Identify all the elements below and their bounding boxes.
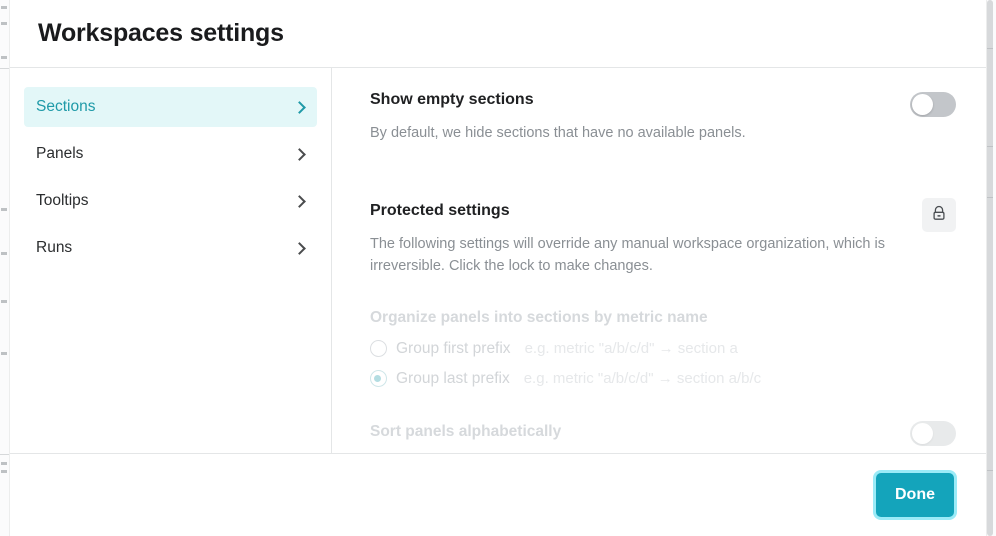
sidebar-item-label: Runs xyxy=(36,239,72,257)
radio-example-text: e.g. metric "a/b/c/d" → section a/b/c xyxy=(524,370,761,387)
chevron-right-icon xyxy=(293,148,306,161)
sidebar-item-panels[interactable]: Panels xyxy=(24,134,317,174)
done-button[interactable]: Done xyxy=(876,473,954,517)
sidebar-item-label: Sections xyxy=(36,98,95,116)
sidebar-item-runs[interactable]: Runs xyxy=(24,228,317,268)
modal-footer: Done xyxy=(10,454,986,535)
protected-settings-block: Protected settings The following setting… xyxy=(370,201,956,446)
lock-toggle-button[interactable] xyxy=(922,198,956,232)
page-scrollbar[interactable] xyxy=(987,0,993,536)
page-title: Workspaces settings xyxy=(38,19,284,48)
protected-settings-description: The following settings will override any… xyxy=(370,233,890,277)
show-empty-sections-toggle[interactable] xyxy=(910,92,956,117)
sidebar-item-tooltips[interactable]: Tooltips xyxy=(24,181,317,221)
chevron-right-icon xyxy=(293,242,306,255)
sort-panels-setting: Sort panels alphabetically xyxy=(370,419,956,446)
modal-header: Workspaces settings xyxy=(10,0,986,68)
sort-panels-label: Sort panels alphabetically xyxy=(370,423,561,441)
lock-closed-icon xyxy=(931,205,947,225)
show-empty-sections-setting: Show empty sections By default, we hide … xyxy=(370,90,956,144)
background-page-sliver-left xyxy=(0,0,10,536)
settings-modal: Workspaces settings Sections Panels Tool… xyxy=(10,0,986,536)
scrollbar-seam xyxy=(987,470,993,471)
show-empty-sections-description: By default, we hide sections that have n… xyxy=(370,122,746,144)
radio-label: Group first prefix xyxy=(396,340,511,358)
chevron-right-icon xyxy=(293,195,306,208)
scrollbar-seam xyxy=(987,48,993,49)
protected-settings-title: Protected settings xyxy=(370,201,890,222)
sidebar-item-label: Panels xyxy=(36,145,83,163)
locked-settings-area: Organize panels into sections by metric … xyxy=(370,308,956,446)
chevron-right-icon xyxy=(293,101,306,114)
organize-panels-heading: Organize panels into sections by metric … xyxy=(370,308,956,328)
scrollbar-seam xyxy=(987,146,993,147)
radio-icon[interactable] xyxy=(370,340,387,357)
workspaces-settings-screen: Workspaces settings Sections Panels Tool… xyxy=(0,0,996,536)
settings-content: Show empty sections By default, we hide … xyxy=(332,68,986,453)
modal-body: Sections Panels Tooltips Runs xyxy=(10,68,986,454)
settings-sidebar: Sections Panels Tooltips Runs xyxy=(10,68,332,453)
show-empty-sections-title: Show empty sections xyxy=(370,90,746,111)
sort-panels-toggle xyxy=(910,421,956,446)
radio-option-group-last-prefix[interactable]: Group last prefix e.g. metric "a/b/c/d" … xyxy=(370,370,956,388)
sidebar-item-label: Tooltips xyxy=(36,192,89,210)
sidebar-item-sections[interactable]: Sections xyxy=(24,87,317,127)
toggle-knob xyxy=(912,94,933,115)
radio-label: Group last prefix xyxy=(396,370,510,388)
toggle-knob xyxy=(912,423,933,444)
radio-icon[interactable] xyxy=(370,370,387,387)
radio-option-group-first-prefix[interactable]: Group first prefix e.g. metric "a/b/c/d"… xyxy=(370,340,956,358)
scrollbar-seam xyxy=(987,197,993,198)
radio-example-text: e.g. metric "a/b/c/d" → section a xyxy=(525,340,738,357)
